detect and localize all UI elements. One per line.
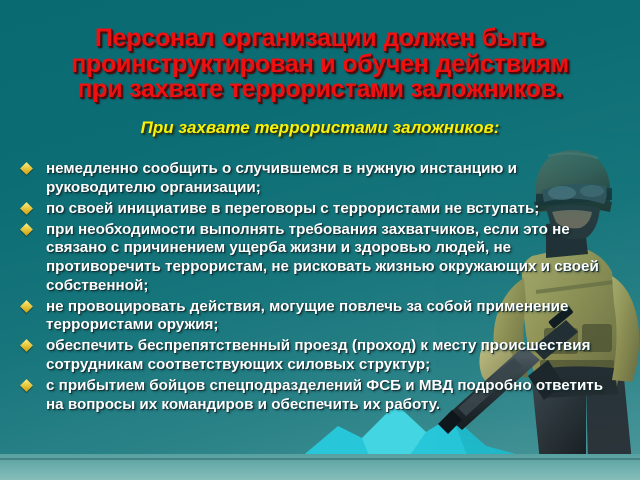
diamond-bullet-icon	[20, 202, 33, 215]
diamond-bullet-icon	[20, 223, 33, 236]
presentation-slide: Персонал организации должен быть проинст…	[0, 0, 640, 480]
slide-title: Персонал организации должен быть проинст…	[14, 26, 626, 103]
list-item-text: с прибытием бойцов спецподразделений ФСБ…	[46, 377, 603, 413]
list-item-text: не провоцировать действия, могущие повле…	[46, 298, 568, 334]
diamond-bullet-icon	[20, 339, 33, 352]
bullet-list: немедленно сообщить о случившемся в нужн…	[14, 160, 614, 417]
list-item-text: по своей инициативе в переговоры с терро…	[46, 200, 539, 217]
list-item-text: немедленно сообщить о случившемся в нужн…	[46, 160, 517, 196]
list-item-text: обеспечить беспрепятственный проезд (про…	[46, 337, 590, 373]
diamond-bullet-icon	[20, 162, 33, 175]
list-item: по своей инициативе в переговоры с терро…	[14, 200, 614, 219]
slide-subtitle: При захвате террористами заложников:	[14, 118, 626, 138]
list-item: обеспечить беспрепятственный проезд (про…	[14, 337, 614, 374]
slide-content: Персонал организации должен быть проинст…	[0, 0, 640, 480]
list-item: немедленно сообщить о случившемся в нужн…	[14, 160, 614, 197]
list-item: при необходимости выполнять требования з…	[14, 221, 614, 295]
diamond-bullet-icon	[20, 379, 33, 392]
list-item: с прибытием бойцов спецподразделений ФСБ…	[14, 377, 614, 414]
list-item: не провоцировать действия, могущие повле…	[14, 298, 614, 335]
list-item-text: при необходимости выполнять требования з…	[46, 221, 599, 294]
diamond-bullet-icon	[20, 300, 33, 313]
